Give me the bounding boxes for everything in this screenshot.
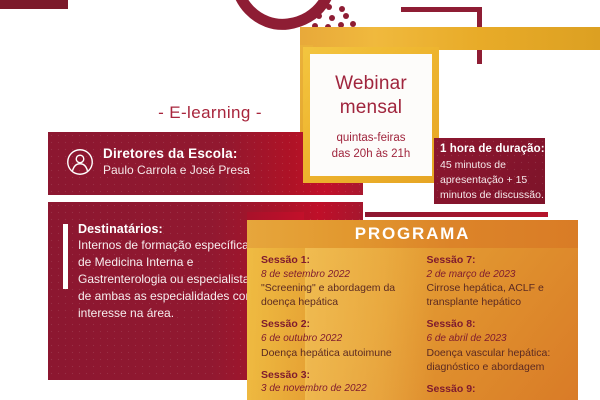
- session-topic: "Screening" e abordagem da doença hepáti…: [261, 281, 407, 309]
- session-date: 8 de setembro 2022: [261, 268, 407, 282]
- panel-divider: [188, 196, 364, 201]
- programa-left-column: Sessão 1: 8 de setembro 2022 "Screening"…: [247, 254, 413, 400]
- session-item: Sessão 1: 8 de setembro 2022 "Screening"…: [261, 254, 407, 309]
- session-topic: Doença hepática autoimune: [261, 346, 407, 360]
- webinar-title-line2: mensal: [340, 97, 402, 118]
- duration-body: 45 minutos de apresentação + 15 minutos …: [440, 158, 548, 204]
- person-circle-icon: [66, 148, 94, 176]
- poster-canvas: - E-learning - Diretores da Escola: Paul…: [0, 0, 600, 400]
- webinar-schedule-line1: quintas-feiras: [336, 132, 405, 144]
- session-topic: Doença vascular hepática: diagnóstico e …: [427, 346, 573, 374]
- programa-right-column: Sessão 7: 2 de março de 2023 Cirrose hep…: [413, 254, 579, 400]
- session-label: Sessão 7:: [427, 254, 573, 268]
- session-label: Sessão 9:: [427, 383, 573, 397]
- directors-title: Diretores da Escola:: [103, 146, 250, 163]
- session-item: Sessão 8: 6 de abril de 2023 Doença vasc…: [427, 318, 573, 373]
- session-label: Sessão 1:: [261, 254, 407, 268]
- webinar-title-line1: Webinar: [335, 73, 407, 94]
- session-date: 6 de abril de 2023: [427, 332, 573, 346]
- session-label: Sessão 2:: [261, 318, 407, 332]
- webinar-title: Webinar mensal: [335, 72, 407, 121]
- session-label: Sessão 8:: [427, 318, 573, 332]
- session-date: 3 de novembro de 2022: [261, 382, 407, 396]
- webinar-schedule-line2: das 20h às 21h: [332, 148, 411, 160]
- session-topic: Cirrose hepática, ACLF e transplante hep…: [427, 281, 573, 309]
- destinatarios-body: Internos de formação específica de Medic…: [78, 237, 263, 322]
- webinar-card: Webinar mensal quintas-feiras das 20h às…: [303, 47, 439, 183]
- destinatarios-block: Destinatários: Internos de formação espe…: [78, 222, 263, 322]
- webinar-schedule: quintas-feiras das 20h às 21h: [332, 131, 411, 162]
- destinatarios-title: Destinatários:: [78, 222, 263, 236]
- directors-row: Diretores da Escola: Paulo Carrola e Jos…: [66, 146, 250, 178]
- session-item: Sessão 2: 6 de outubro 2022 Doença hepát…: [261, 318, 407, 359]
- session-item: Sessão 3: 3 de novembro de 2022: [261, 369, 407, 396]
- programa-red-line-decoration: [365, 212, 548, 217]
- session-item: Sessão 9:: [427, 383, 573, 397]
- destinatarios-accent-bar: [63, 224, 68, 289]
- session-date: 2 de março de 2023: [427, 268, 573, 282]
- session-label: Sessão 3:: [261, 369, 407, 383]
- directors-names: Paulo Carrola e José Presa: [103, 163, 250, 179]
- duration-title: 1 hora de duração:: [440, 143, 545, 155]
- programa-header-label: PROGRAMA: [247, 224, 578, 244]
- session-item: Sessão 7: 2 de março de 2023 Cirrose hep…: [427, 254, 573, 309]
- elearning-label: - E-learning -: [110, 103, 310, 123]
- programa-columns: Sessão 1: 8 de setembro 2022 "Screening"…: [247, 254, 578, 400]
- top-left-bar-decoration: [0, 0, 68, 9]
- session-date: 6 de outubro 2022: [261, 332, 407, 346]
- webinar-card-inner: Webinar mensal quintas-feiras das 20h às…: [310, 54, 432, 176]
